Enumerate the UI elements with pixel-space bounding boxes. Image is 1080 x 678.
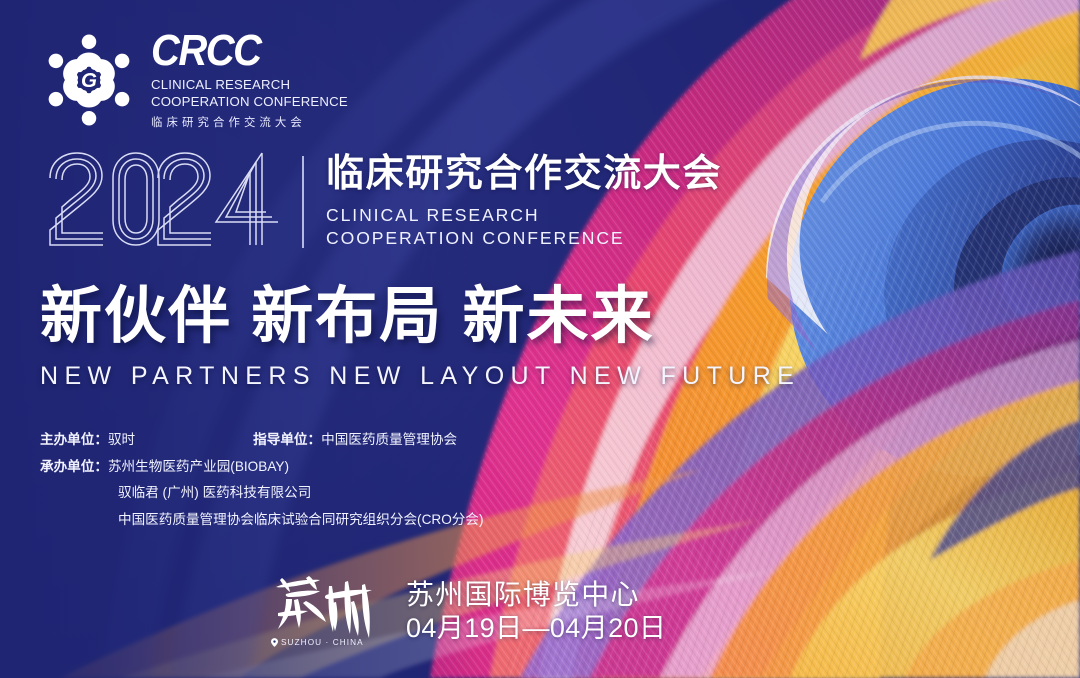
slogan-cn: 新伙伴 新布局 新未来 [40, 286, 800, 348]
host-value: 驭时 [108, 427, 135, 454]
crcc-logo-lockup: G CRCC CLINICAL RESEARCH COOPERATION CON… [40, 30, 348, 130]
crcc-subtitle-en: CLINICAL RESEARCH COOPERATION CONFERENCE [151, 77, 348, 111]
guide-value: 中国医药质量管理协会 [321, 427, 457, 454]
venue-info: 苏州国际博览中心 04月19日—04月20日 [406, 579, 666, 648]
crcc-subtitle-en-line1: CLINICAL RESEARCH [151, 77, 348, 94]
year-2024-outline [44, 148, 290, 252]
suzhou-city-subtitle-text: SUZHOU · CHINA [281, 638, 364, 647]
location-pin-icon [271, 638, 278, 647]
headline-title-en-line1: CLINICAL RESEARCH [326, 204, 722, 227]
footer-venue-block: SUZHOU · CHINA 苏州国际博览中心 04月19日—04月20日 [268, 568, 666, 648]
crcc-subtitle-cn: 临床研究合作交流大会 [151, 114, 348, 130]
guide-group: 指导单位： 中国医药质量管理协会 [253, 427, 457, 454]
conference-poster: G CRCC CLINICAL RESEARCH COOPERATION CON… [0, 0, 1080, 678]
venue-date: 04月19日—04月20日 [406, 612, 666, 644]
headline-band: 临床研究合作交流大会 CLINICAL RESEARCH COOPERATION… [44, 148, 722, 252]
suzhou-city-subtitle: SUZHOU · CHINA [271, 638, 364, 647]
suzhou-city-logo: SUZHOU · CHINA [268, 568, 390, 648]
host-label: 主办单位： [40, 427, 108, 454]
headline-title-cn: 临床研究合作交流大会 [326, 154, 722, 195]
coorg-label: 承办单位： [40, 454, 108, 481]
slogan-block: 新伙伴 新布局 新未来 NEW PARTNERS NEW LAYOUT NEW … [40, 286, 800, 391]
coorg-value-0: 苏州生物医药产业园(BIOBAY) [108, 454, 289, 481]
guide-label: 指导单位： [253, 427, 321, 454]
venue-name: 苏州国际博览中心 [406, 579, 666, 611]
svg-text:G: G [81, 69, 97, 92]
organizer-row-coorg: 承办单位： 苏州生物医药产业园(BIOBAY) [40, 454, 600, 481]
crcc-people-circle-g-logo-icon: G [40, 30, 138, 130]
crcc-subtitle-en-line2: COOPERATION CONFERENCE [151, 94, 348, 111]
crcc-wordmark: CRCC [151, 32, 348, 72]
slogan-en: NEW PARTNERS NEW LAYOUT NEW FUTURE [40, 362, 800, 391]
headline-divider [302, 156, 304, 248]
organizer-row-host-guide: 主办单位： 驭时 指导单位： 中国医药质量管理协会 [40, 427, 600, 454]
organizer-block: 主办单位： 驭时 指导单位： 中国医药质量管理协会 承办单位： 苏州生物医药产业… [40, 427, 600, 533]
coorg-value-1: 驭临君 (广州) 医药科技有限公司 [40, 480, 600, 507]
suzhou-calligraphy-icon [268, 568, 390, 648]
headline-title-en-line2: COOPERATION CONFERENCE [326, 227, 722, 250]
headline-title-en: CLINICAL RESEARCH COOPERATION CONFERENCE [326, 204, 722, 251]
coorg-value-2: 中国医药质量管理协会临床试验合同研究组织分会(CRO分会) [40, 507, 600, 534]
